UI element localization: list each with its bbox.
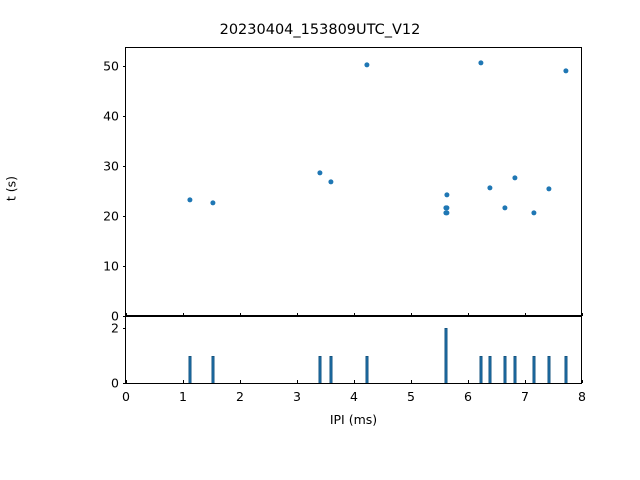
y-ticklabel-top-10: 10 xyxy=(81,258,119,273)
y-ticklabel-top-0: 0 xyxy=(81,309,119,324)
x-ticklabel-4: 4 xyxy=(350,389,358,404)
y-ticklabel-bottom-0: 0 xyxy=(81,376,119,391)
y-axis-label: t (s) xyxy=(4,149,19,229)
matplotlib-figure: 20230404_153809UTC_V12 t (s) IPI (ms) 01… xyxy=(0,0,640,480)
x-ticklabel-6: 6 xyxy=(464,389,472,404)
y-ticklabel-top-40: 40 xyxy=(81,108,119,123)
x-ticklabel-5: 5 xyxy=(407,389,415,404)
x-ticklabel-8: 8 xyxy=(578,389,586,404)
y-ticklabel-bottom-2: 2 xyxy=(81,321,119,336)
chart-title: 20230404_153809UTC_V12 xyxy=(0,22,640,38)
x-ticklabel-0: 0 xyxy=(122,389,130,404)
y-ticklabel-top-30: 30 xyxy=(81,158,119,173)
x-ticklabel-7: 7 xyxy=(521,389,529,404)
y-ticklabel-top-50: 50 xyxy=(81,58,119,73)
x-ticklabel-3: 3 xyxy=(293,389,301,404)
x-tick-top-8 xyxy=(582,313,583,317)
x-axis-label: IPI (ms) xyxy=(125,412,582,427)
x-tick-bottom-8 xyxy=(582,380,583,384)
histogram-axes xyxy=(125,316,582,384)
scatter-axes xyxy=(125,47,582,316)
x-ticklabel-1: 1 xyxy=(179,389,187,404)
x-ticklabel-2: 2 xyxy=(236,389,244,404)
y-ticklabel-top-20: 20 xyxy=(81,208,119,223)
